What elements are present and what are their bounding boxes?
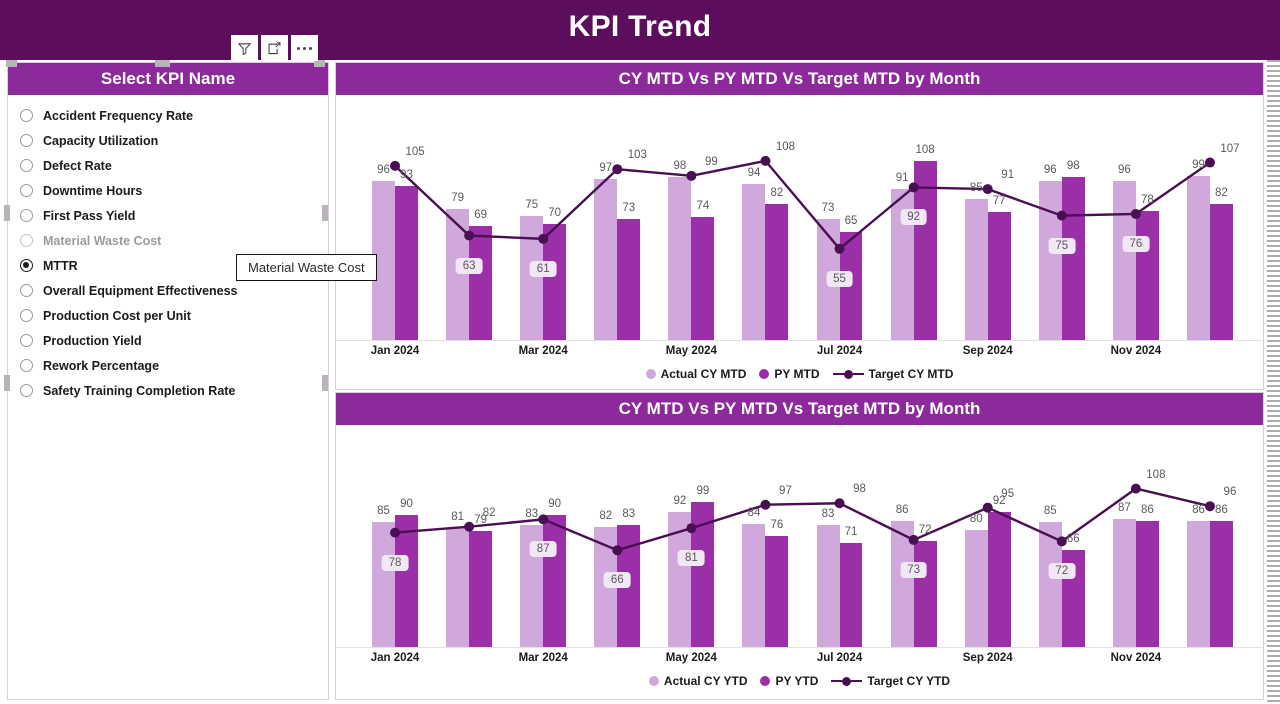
kpi-option-label: Overall Equipment Effectiveness	[43, 284, 238, 298]
kpi-option-label: Capacity Utilization	[43, 134, 158, 148]
bar-group[interactable]	[742, 425, 788, 647]
radio-unselected-icon[interactable]	[20, 359, 33, 372]
bar-py[interactable]	[1210, 204, 1233, 340]
legend-item[interactable]: Actual CY YTD	[649, 674, 748, 688]
kpi-option-capacity-utilization[interactable]: Capacity Utilization	[20, 128, 328, 153]
x-axis-tick: Nov 2024	[1111, 345, 1162, 357]
kpi-option-label: Material Waste Cost	[43, 234, 161, 248]
bar-py[interactable]	[914, 161, 937, 340]
kpi-option-material-waste-cost[interactable]: Material Waste Cost	[20, 228, 328, 253]
bar-py[interactable]	[691, 217, 714, 340]
resize-handle-middle-left[interactable]	[4, 205, 10, 221]
bar-py[interactable]	[840, 232, 863, 340]
chart-card-ytd: CY MTD Vs PY MTD Vs Target MTD by Month …	[335, 392, 1264, 700]
page-scrollbar[interactable]	[1266, 60, 1280, 704]
bar-group[interactable]	[372, 425, 418, 647]
bar-py[interactable]	[691, 502, 714, 647]
power-bi-report-page: KPI Trend Select KPI Name Accident Frequ…	[0, 0, 1280, 704]
bar-py[interactable]	[543, 224, 566, 340]
x-axis-mtd: Jan 2024Mar 2024May 2024Jul 2024Sep 2024…	[336, 340, 1263, 362]
legend-item[interactable]: Target CY YTD	[831, 674, 950, 688]
x-axis-tick: Jul 2024	[817, 652, 862, 664]
bar-py[interactable]	[395, 186, 418, 340]
bar-group[interactable]	[1187, 425, 1233, 647]
kpi-option-label: Safety Training Completion Rate	[43, 384, 235, 398]
kpi-option-production-cost-per-unit[interactable]: Production Cost per Unit	[20, 303, 328, 328]
bar-py[interactable]	[988, 512, 1011, 647]
bar-group[interactable]	[1039, 95, 1085, 340]
slicer-title: Select KPI Name	[101, 69, 235, 89]
bar-actual[interactable]	[668, 177, 691, 340]
bar-group[interactable]	[372, 95, 418, 340]
chart-legend-ytd[interactable]: Actual CY YTDPY YTDTarget CY YTD	[336, 669, 1263, 693]
bar-group[interactable]	[1039, 425, 1085, 647]
bar-py[interactable]	[1136, 521, 1159, 647]
bar-group[interactable]	[446, 425, 492, 647]
chart-plot-mtd[interactable]: 9693796975709773987494827365911088577969…	[336, 95, 1263, 340]
kpi-option-downtime-hours[interactable]: Downtime Hours	[20, 178, 328, 203]
resize-handle-top-left[interactable]	[6, 60, 17, 67]
bar-actual[interactable]	[520, 216, 543, 340]
bar-group[interactable]	[817, 95, 863, 340]
filter-icon[interactable]	[231, 35, 258, 61]
bar-group[interactable]	[1113, 425, 1159, 647]
bar-group[interactable]	[594, 425, 640, 647]
bars-layer-mtd	[336, 95, 1263, 340]
x-axis-tick: May 2024	[666, 652, 717, 664]
legend-label: Target CY YTD	[867, 674, 950, 688]
slicer-header: Select KPI Name	[8, 63, 328, 95]
bar-actual[interactable]	[742, 184, 765, 340]
bar-actual[interactable]	[446, 528, 469, 647]
bar-py[interactable]	[1136, 211, 1159, 340]
bar-group[interactable]	[817, 425, 863, 647]
bar-actual[interactable]	[817, 525, 840, 647]
x-axis-tick: Jan 2024	[371, 652, 420, 664]
chart-legend-mtd[interactable]: Actual CY MTDPY MTDTarget CY MTD	[336, 362, 1263, 386]
bar-actual[interactable]	[372, 522, 395, 647]
bar-py[interactable]	[395, 515, 418, 647]
bar-py[interactable]	[914, 541, 937, 647]
kpi-option-first-pass-yield[interactable]: First Pass Yield	[20, 203, 328, 228]
legend-item[interactable]: Target CY MTD	[833, 367, 954, 381]
x-axis-tick: Mar 2024	[519, 652, 568, 664]
bar-actual[interactable]	[965, 199, 988, 340]
chart-title-mtd: CY MTD Vs PY MTD Vs Target MTD by Month	[336, 63, 1263, 95]
radio-unselected-icon[interactable]	[20, 234, 33, 247]
resize-handle-lower-left[interactable]	[4, 375, 10, 391]
bar-group[interactable]	[965, 425, 1011, 647]
legend-line-swatch	[831, 677, 862, 686]
bar-actual[interactable]	[1039, 522, 1062, 647]
bar-actual[interactable]	[1113, 181, 1136, 340]
x-axis-tick: Sep 2024	[963, 652, 1013, 664]
bar-py[interactable]	[543, 515, 566, 647]
visual-toolbar	[231, 35, 318, 61]
bar-group[interactable]	[520, 425, 566, 647]
x-axis-tick: Sep 2024	[963, 345, 1013, 357]
radio-unselected-icon[interactable]	[20, 159, 33, 172]
kpi-option-safety-training-completion-rate[interactable]: Safety Training Completion Rate	[20, 378, 328, 403]
kpi-option-label: Production Yield	[43, 334, 142, 348]
bar-group[interactable]	[520, 95, 566, 340]
chart-plot-ytd[interactable]: 8590817983908283929984768371867280928566…	[336, 425, 1263, 647]
more-options-icon[interactable]	[291, 35, 318, 61]
slicer-item-tooltip: Material Waste Cost	[236, 254, 377, 281]
legend-label: PY YTD	[775, 674, 818, 688]
legend-color-swatch	[649, 676, 659, 686]
radio-unselected-icon[interactable]	[20, 309, 33, 322]
resize-handle-top-center[interactable]	[155, 60, 170, 67]
radio-unselected-icon[interactable]	[20, 109, 33, 122]
bar-py[interactable]	[469, 531, 492, 647]
kpi-option-list: Accident Frequency RateCapacity Utilizat…	[8, 95, 328, 403]
kpi-option-overall-equipment-effectiveness[interactable]: Overall Equipment Effectiveness	[20, 278, 328, 303]
legend-line-swatch	[833, 370, 864, 379]
bar-py[interactable]	[617, 219, 640, 340]
x-axis-tick: Jan 2024	[371, 345, 420, 357]
kpi-option-label: First Pass Yield	[43, 209, 135, 223]
radio-unselected-icon[interactable]	[20, 209, 33, 222]
kpi-option-label: Defect Rate	[43, 159, 112, 173]
legend-label: Actual CY YTD	[664, 674, 748, 688]
kpi-option-production-yield[interactable]: Production Yield	[20, 328, 328, 353]
bar-py[interactable]	[469, 226, 492, 340]
kpi-option-label: MTTR	[43, 259, 78, 273]
bar-py[interactable]	[840, 543, 863, 647]
legend-label: Target CY MTD	[869, 367, 954, 381]
bar-py[interactable]	[1210, 521, 1233, 647]
kpi-option-label: Production Cost per Unit	[43, 309, 191, 323]
legend-color-swatch	[759, 369, 769, 379]
bar-actual[interactable]	[1187, 176, 1210, 340]
bar-group[interactable]	[965, 95, 1011, 340]
kpi-option-rework-percentage[interactable]: Rework Percentage	[20, 353, 328, 378]
bar-py[interactable]	[765, 204, 788, 340]
legend-item[interactable]: PY YTD	[760, 674, 818, 688]
bar-actual[interactable]	[1039, 181, 1062, 340]
bar-actual[interactable]	[1187, 521, 1210, 647]
bar-actual[interactable]	[742, 524, 765, 647]
bar-actual[interactable]	[446, 209, 469, 340]
legend-color-swatch	[760, 676, 770, 686]
bar-actual[interactable]	[1113, 519, 1136, 647]
bar-group[interactable]	[668, 425, 714, 647]
kpi-option-label: Rework Percentage	[43, 359, 159, 373]
x-axis-tick: Nov 2024	[1111, 652, 1162, 664]
kpi-slicer[interactable]: Select KPI Name Accident Frequency RateC…	[7, 62, 329, 700]
radio-unselected-icon[interactable]	[20, 184, 33, 197]
chart-card-mtd: CY MTD Vs PY MTD Vs Target MTD by Month …	[335, 62, 1264, 390]
bar-actual[interactable]	[520, 525, 543, 647]
bar-py[interactable]	[1062, 177, 1085, 340]
bar-actual[interactable]	[891, 189, 914, 340]
kpi-option-label: Accident Frequency Rate	[43, 109, 193, 123]
bar-py[interactable]	[617, 525, 640, 647]
kpi-option-defect-rate[interactable]: Defect Rate	[20, 153, 328, 178]
bar-actual[interactable]	[668, 512, 691, 647]
resize-handle-top-right[interactable]	[314, 60, 325, 67]
bar-actual[interactable]	[965, 530, 988, 647]
bar-group[interactable]	[594, 95, 640, 340]
resize-handle-lower-right[interactable]	[322, 375, 328, 391]
legend-label: PY MTD	[774, 367, 819, 381]
bar-group[interactable]	[446, 95, 492, 340]
legend-label: Actual CY MTD	[661, 367, 747, 381]
page-header: KPI Trend	[0, 0, 1280, 60]
bar-group[interactable]	[742, 95, 788, 340]
bar-actual[interactable]	[594, 179, 617, 340]
legend-item[interactable]: Actual CY MTD	[646, 367, 747, 381]
page-title: KPI Trend	[0, 10, 1280, 44]
legend-item[interactable]: PY MTD	[759, 367, 819, 381]
radio-unselected-icon[interactable]	[20, 384, 33, 397]
radio-unselected-icon[interactable]	[20, 134, 33, 147]
radio-selected-icon[interactable]	[20, 259, 33, 272]
legend-color-swatch	[646, 369, 656, 379]
chart-title-ytd: CY MTD Vs PY MTD Vs Target MTD by Month	[336, 393, 1263, 425]
bar-group[interactable]	[668, 95, 714, 340]
bar-actual[interactable]	[594, 527, 617, 647]
bar-actual[interactable]	[891, 521, 914, 647]
focus-mode-icon[interactable]	[261, 35, 288, 61]
radio-unselected-icon[interactable]	[20, 284, 33, 297]
resize-handle-middle-right[interactable]	[322, 205, 328, 221]
bar-group[interactable]	[891, 425, 937, 647]
bar-group[interactable]	[1113, 95, 1159, 340]
x-axis-tick: Jul 2024	[817, 345, 862, 357]
kpi-option-accident-frequency-rate[interactable]: Accident Frequency Rate	[20, 103, 328, 128]
x-axis-tick: May 2024	[666, 345, 717, 357]
x-axis-ytd: Jan 2024Mar 2024May 2024Jul 2024Sep 2024…	[336, 647, 1263, 669]
radio-unselected-icon[interactable]	[20, 334, 33, 347]
bar-group[interactable]	[891, 95, 937, 340]
bar-py[interactable]	[988, 212, 1011, 340]
bar-actual[interactable]	[817, 219, 840, 340]
x-axis-tick: Mar 2024	[519, 345, 568, 357]
bar-py[interactable]	[1062, 550, 1085, 647]
bars-layer-ytd	[336, 425, 1263, 647]
kpi-option-label: Downtime Hours	[43, 184, 142, 198]
bar-group[interactable]	[1187, 95, 1233, 340]
bar-py[interactable]	[765, 536, 788, 647]
